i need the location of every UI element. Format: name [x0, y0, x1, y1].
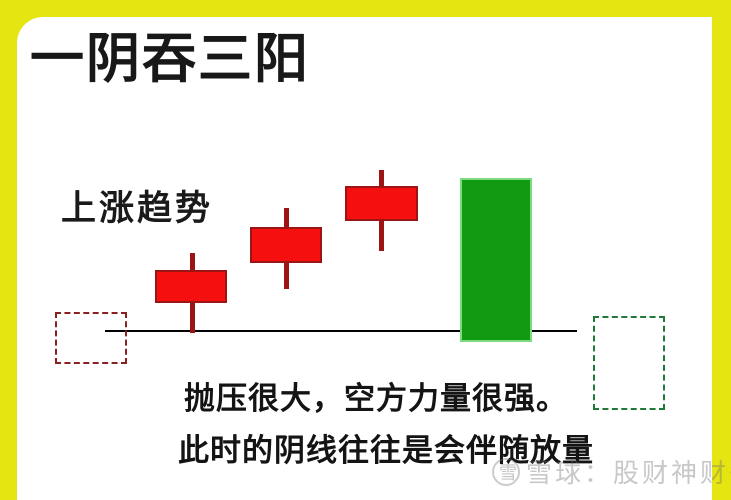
- page-title: 一阴吞三阳: [30, 28, 310, 90]
- left-reference-box: [55, 312, 127, 364]
- candle-body-1: [155, 270, 227, 303]
- candle-body-3: [345, 186, 418, 221]
- watermark-logo-icon: 雪: [492, 458, 520, 486]
- slide-root: 一阴吞三阳 上涨趋势 抛压很大，空方力量很强。 此时的阴线往往是会伴随放量 雪 …: [0, 0, 731, 500]
- watermark-text: 雪球：股财神财哥: [526, 458, 731, 488]
- candle-body-2: [250, 227, 322, 263]
- trend-label: 上涨趋势: [61, 188, 213, 230]
- right-reference-box: [593, 316, 665, 410]
- caption-line-1: 抛压很大，空方力量很强。: [184, 380, 568, 418]
- watermark-logo-glyph: 雪: [499, 459, 517, 485]
- candle-body-4: [460, 178, 532, 342]
